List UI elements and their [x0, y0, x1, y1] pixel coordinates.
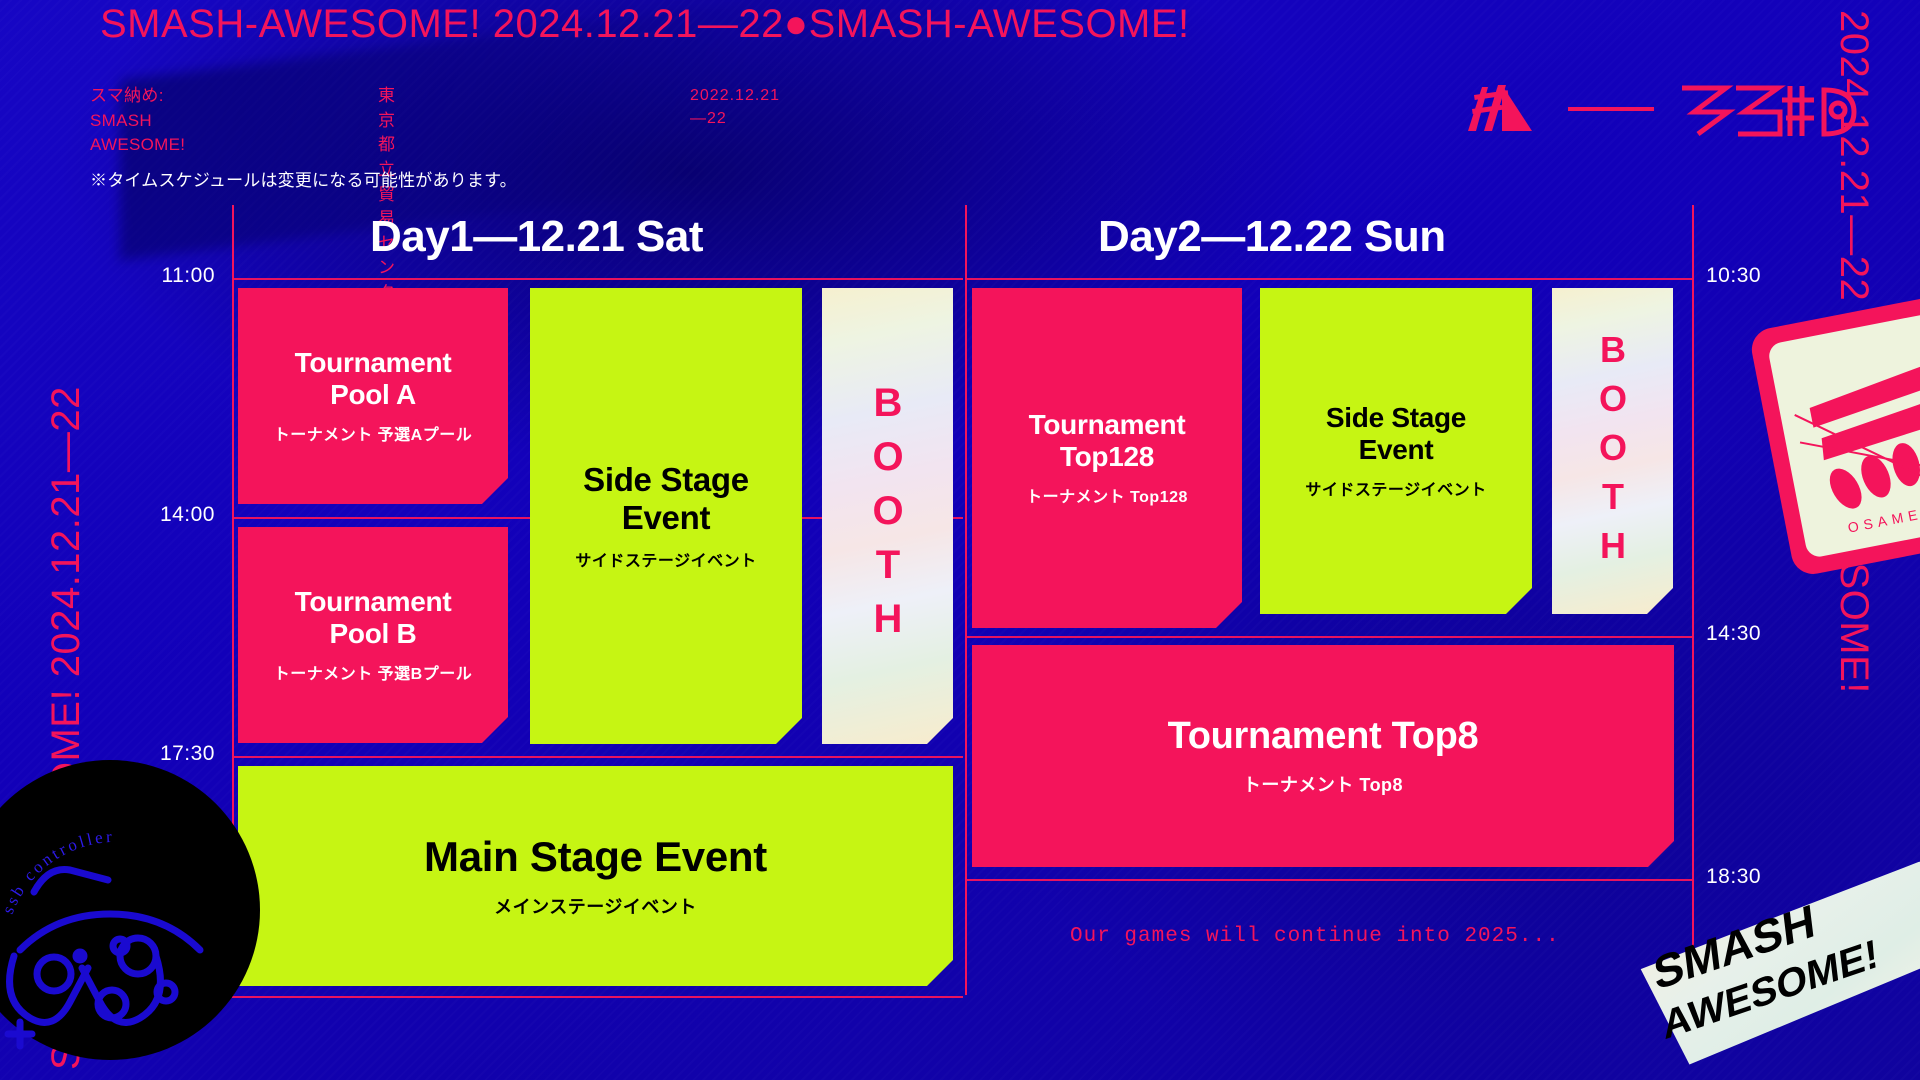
ssb-controller-badge: ssb controller	[0, 760, 260, 1060]
gridline-day1-3	[232, 996, 963, 998]
event-title: スマ納め: SMASH AWESOME!	[90, 84, 185, 158]
time-label-right-1: 14:30	[1706, 622, 1761, 646]
session-tournament-top128[interactable]: Tournament Top128 トーナメント Top128	[972, 288, 1242, 628]
session-title-en: Tournament Top8	[1168, 715, 1479, 759]
logo-divider	[1568, 107, 1654, 111]
session-title-en: Tournament Top128	[1029, 409, 1186, 473]
time-label-right-0: 10:30	[1706, 264, 1761, 288]
session-tournament-pool-a[interactable]: Tournament Pool A トーナメント 予選Aプール	[238, 288, 508, 504]
marquee-bottom: SMASH-AWESOME! 2024.12.21—22●SMASH-AWESO…	[1830, 1074, 1920, 1080]
event-title-jp: スマ納め:	[90, 84, 185, 109]
event-date: 2022.12.21—22	[690, 84, 780, 130]
session-title-en: Side Stage Event	[1326, 402, 1466, 466]
session-title-en: Tournament Pool B	[295, 586, 452, 650]
continue-note: Our games will continue into 2025...	[1070, 925, 1560, 948]
fan-logo-icon	[1462, 79, 1548, 139]
session-title-jp: トーナメント 予選Aプール	[274, 421, 473, 445]
booth-label: BOOTH	[1592, 329, 1634, 574]
gridline-day2-1	[965, 636, 1694, 638]
gridline-day1-2	[232, 756, 963, 758]
booth-area-day1[interactable]: BOOTH	[822, 288, 953, 744]
gridline-day2-0	[965, 278, 1694, 280]
session-title-jp: トーナメント 予選Bプール	[274, 660, 473, 684]
gridline-day2-2	[965, 879, 1694, 881]
logo-row	[1462, 78, 1862, 140]
session-title-jp: サイドステージイベント	[1305, 476, 1486, 500]
session-side-stage-event-day2[interactable]: Side Stage Event サイドステージイベント	[1260, 288, 1532, 614]
booth-label: BOOTH	[865, 381, 910, 651]
session-title-en: Side Stage Event	[583, 461, 749, 537]
session-title-jp: トーナメント Top8	[1243, 771, 1403, 797]
session-title-jp: サイドステージイベント	[575, 547, 756, 571]
day-divider	[965, 205, 967, 995]
session-title-jp: トーナメント Top128	[1026, 483, 1188, 507]
smash-osame-logo-icon	[1674, 78, 1862, 140]
time-label-right-2: 18:30	[1706, 865, 1761, 889]
marquee-top: SMASH-AWESOME! 2024.12.21—22●SMASH-AWESO…	[100, 2, 1190, 47]
session-main-stage-event[interactable]: Main Stage Event メインステージイベント	[238, 766, 953, 986]
session-tournament-top8[interactable]: Tournament Top8 トーナメント Top8	[972, 645, 1674, 867]
session-title-en: Tournament Pool A	[295, 347, 452, 411]
time-label-left-0: 11:00	[162, 264, 216, 288]
controller-icon: ssb controller	[0, 760, 260, 1060]
session-tournament-pool-b[interactable]: Tournament Pool B トーナメント 予選Bプール	[238, 527, 508, 743]
event-title-en: SMASH AWESOME!	[90, 109, 185, 158]
time-label-left-1: 14:00	[160, 503, 215, 527]
session-title-jp: メインステージイベント	[494, 893, 697, 919]
booth-area-day2[interactable]: BOOTH	[1552, 288, 1673, 614]
session-title-en: Main Stage Event	[424, 833, 767, 881]
gridline-day1-0	[232, 278, 963, 280]
schedule-change-note: ※タイムスケジュールは変更になる可能性があります。	[90, 166, 517, 191]
session-side-stage-event-day1[interactable]: Side Stage Event サイドステージイベント	[530, 288, 802, 744]
